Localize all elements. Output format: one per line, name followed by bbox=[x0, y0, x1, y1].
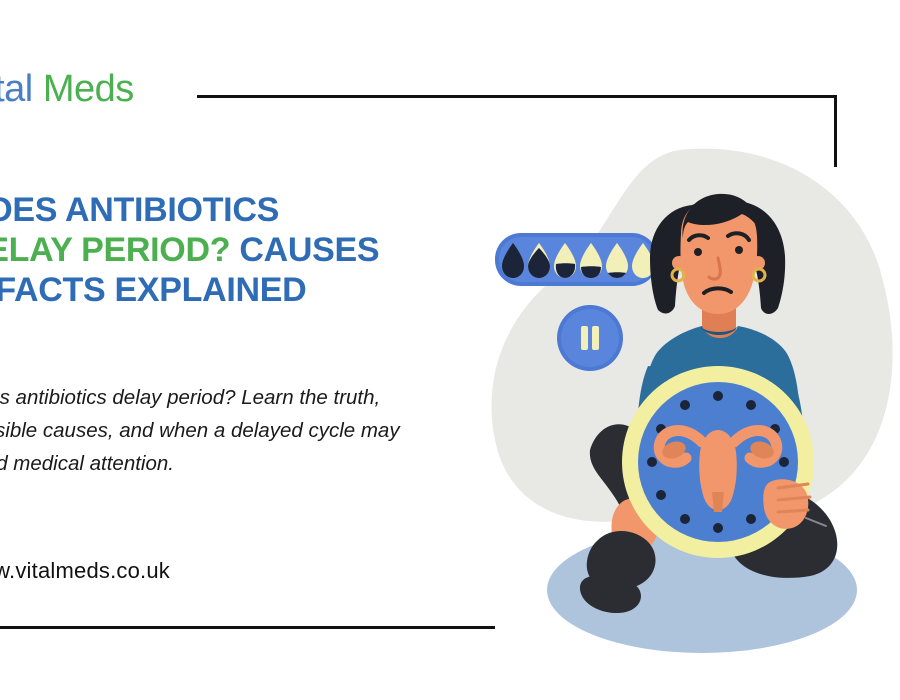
page-subtitle: Does antibiotics delay period? Learn the… bbox=[0, 381, 422, 481]
brand-logo: Vital Meds bbox=[0, 68, 134, 111]
top-horizontal-rule bbox=[197, 95, 837, 98]
eye-left bbox=[694, 248, 702, 256]
poster-canvas: Vital Meds DOES ANTIBIOTICSDELAY PERIOD?… bbox=[0, 0, 900, 700]
hero-illustration bbox=[470, 130, 900, 690]
headline-line-1: DOES ANTIBIOTICS bbox=[0, 191, 279, 229]
menstrual-flow-indicator[interactable] bbox=[495, 233, 658, 286]
pause-bar-left bbox=[581, 326, 588, 350]
website-url: www.vitalmeds.co.uk bbox=[0, 558, 170, 584]
brand-logo-meds: Meds bbox=[43, 68, 134, 110]
headline-line-2-green: DELAY PERIOD? bbox=[0, 231, 230, 269]
bottom-horizontal-rule bbox=[0, 626, 495, 629]
pause-button[interactable] bbox=[557, 305, 623, 371]
pause-bar-right bbox=[592, 326, 599, 350]
headline-line-2-blue: CAUSES bbox=[239, 231, 379, 269]
headline-line-3: & FACTS EXPLAINED bbox=[0, 271, 306, 309]
brand-logo-vital: Vital bbox=[0, 68, 33, 110]
eye-right bbox=[735, 246, 743, 254]
page-title: DOES ANTIBIOTICSDELAY PERIOD? CAUSES& FA… bbox=[0, 191, 432, 310]
